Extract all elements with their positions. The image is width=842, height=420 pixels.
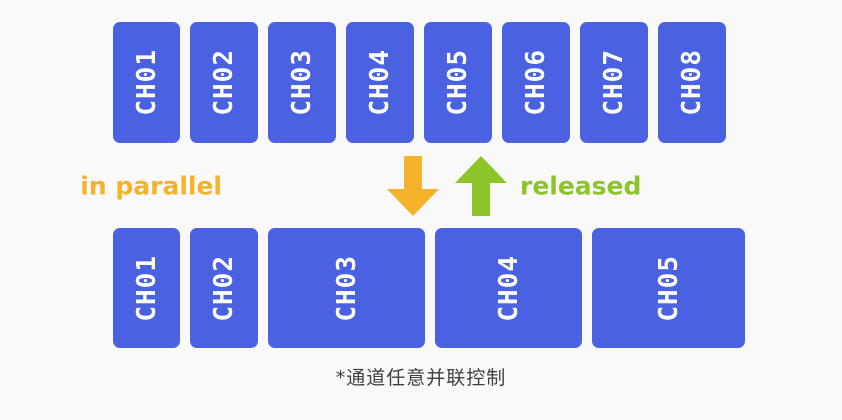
parallel-channel-diagram: CH01CH02CH03CH04CH05CH06CH07CH08 in para… [0, 0, 842, 420]
channel-card-label: CH03 [289, 49, 315, 116]
channel-card-label: CH01 [134, 255, 160, 322]
footnote-text: *通道任意并联控制 [0, 363, 842, 390]
channel-card-ch05[interactable]: CH05 [592, 228, 745, 348]
arrow-up-icon [455, 156, 507, 216]
channel-card-ch01[interactable]: CH01 [113, 22, 180, 143]
arrow-down-icon [387, 156, 439, 216]
channel-card-ch08[interactable]: CH08 [658, 22, 726, 143]
channel-card-label: CH01 [134, 49, 160, 116]
channel-card-label: CH02 [211, 255, 237, 322]
channel-card-label: CH08 [679, 49, 705, 116]
channel-card-ch04[interactable]: CH04 [346, 22, 414, 143]
released-label: released [520, 172, 641, 201]
channel-card-label: CH05 [656, 255, 682, 322]
channel-card-label: CH03 [334, 255, 360, 322]
channel-card-ch06[interactable]: CH06 [502, 22, 570, 143]
channel-card-ch07[interactable]: CH07 [580, 22, 648, 143]
channel-card-label: CH04 [496, 255, 522, 322]
channel-card-ch03[interactable]: CH03 [268, 228, 425, 348]
channel-card-label: CH05 [445, 49, 471, 116]
transition-band: in parallel released [0, 155, 842, 217]
channel-card-label: CH04 [367, 49, 393, 116]
channel-card-ch03[interactable]: CH03 [268, 22, 336, 143]
in-parallel-label: in parallel [80, 172, 222, 201]
channel-card-ch02[interactable]: CH02 [190, 228, 258, 348]
channel-card-ch04[interactable]: CH04 [435, 228, 582, 348]
channel-card-label: CH07 [601, 49, 627, 116]
channel-card-ch05[interactable]: CH05 [424, 22, 492, 143]
channel-card-ch01[interactable]: CH01 [113, 228, 180, 348]
top-channel-row: CH01CH02CH03CH04CH05CH06CH07CH08 [113, 22, 750, 143]
channel-card-label: CH06 [523, 49, 549, 116]
channel-card-ch02[interactable]: CH02 [190, 22, 258, 143]
bottom-channel-row: CH01CH02CH03CH04CH05 [113, 228, 750, 348]
channel-card-label: CH02 [211, 49, 237, 116]
